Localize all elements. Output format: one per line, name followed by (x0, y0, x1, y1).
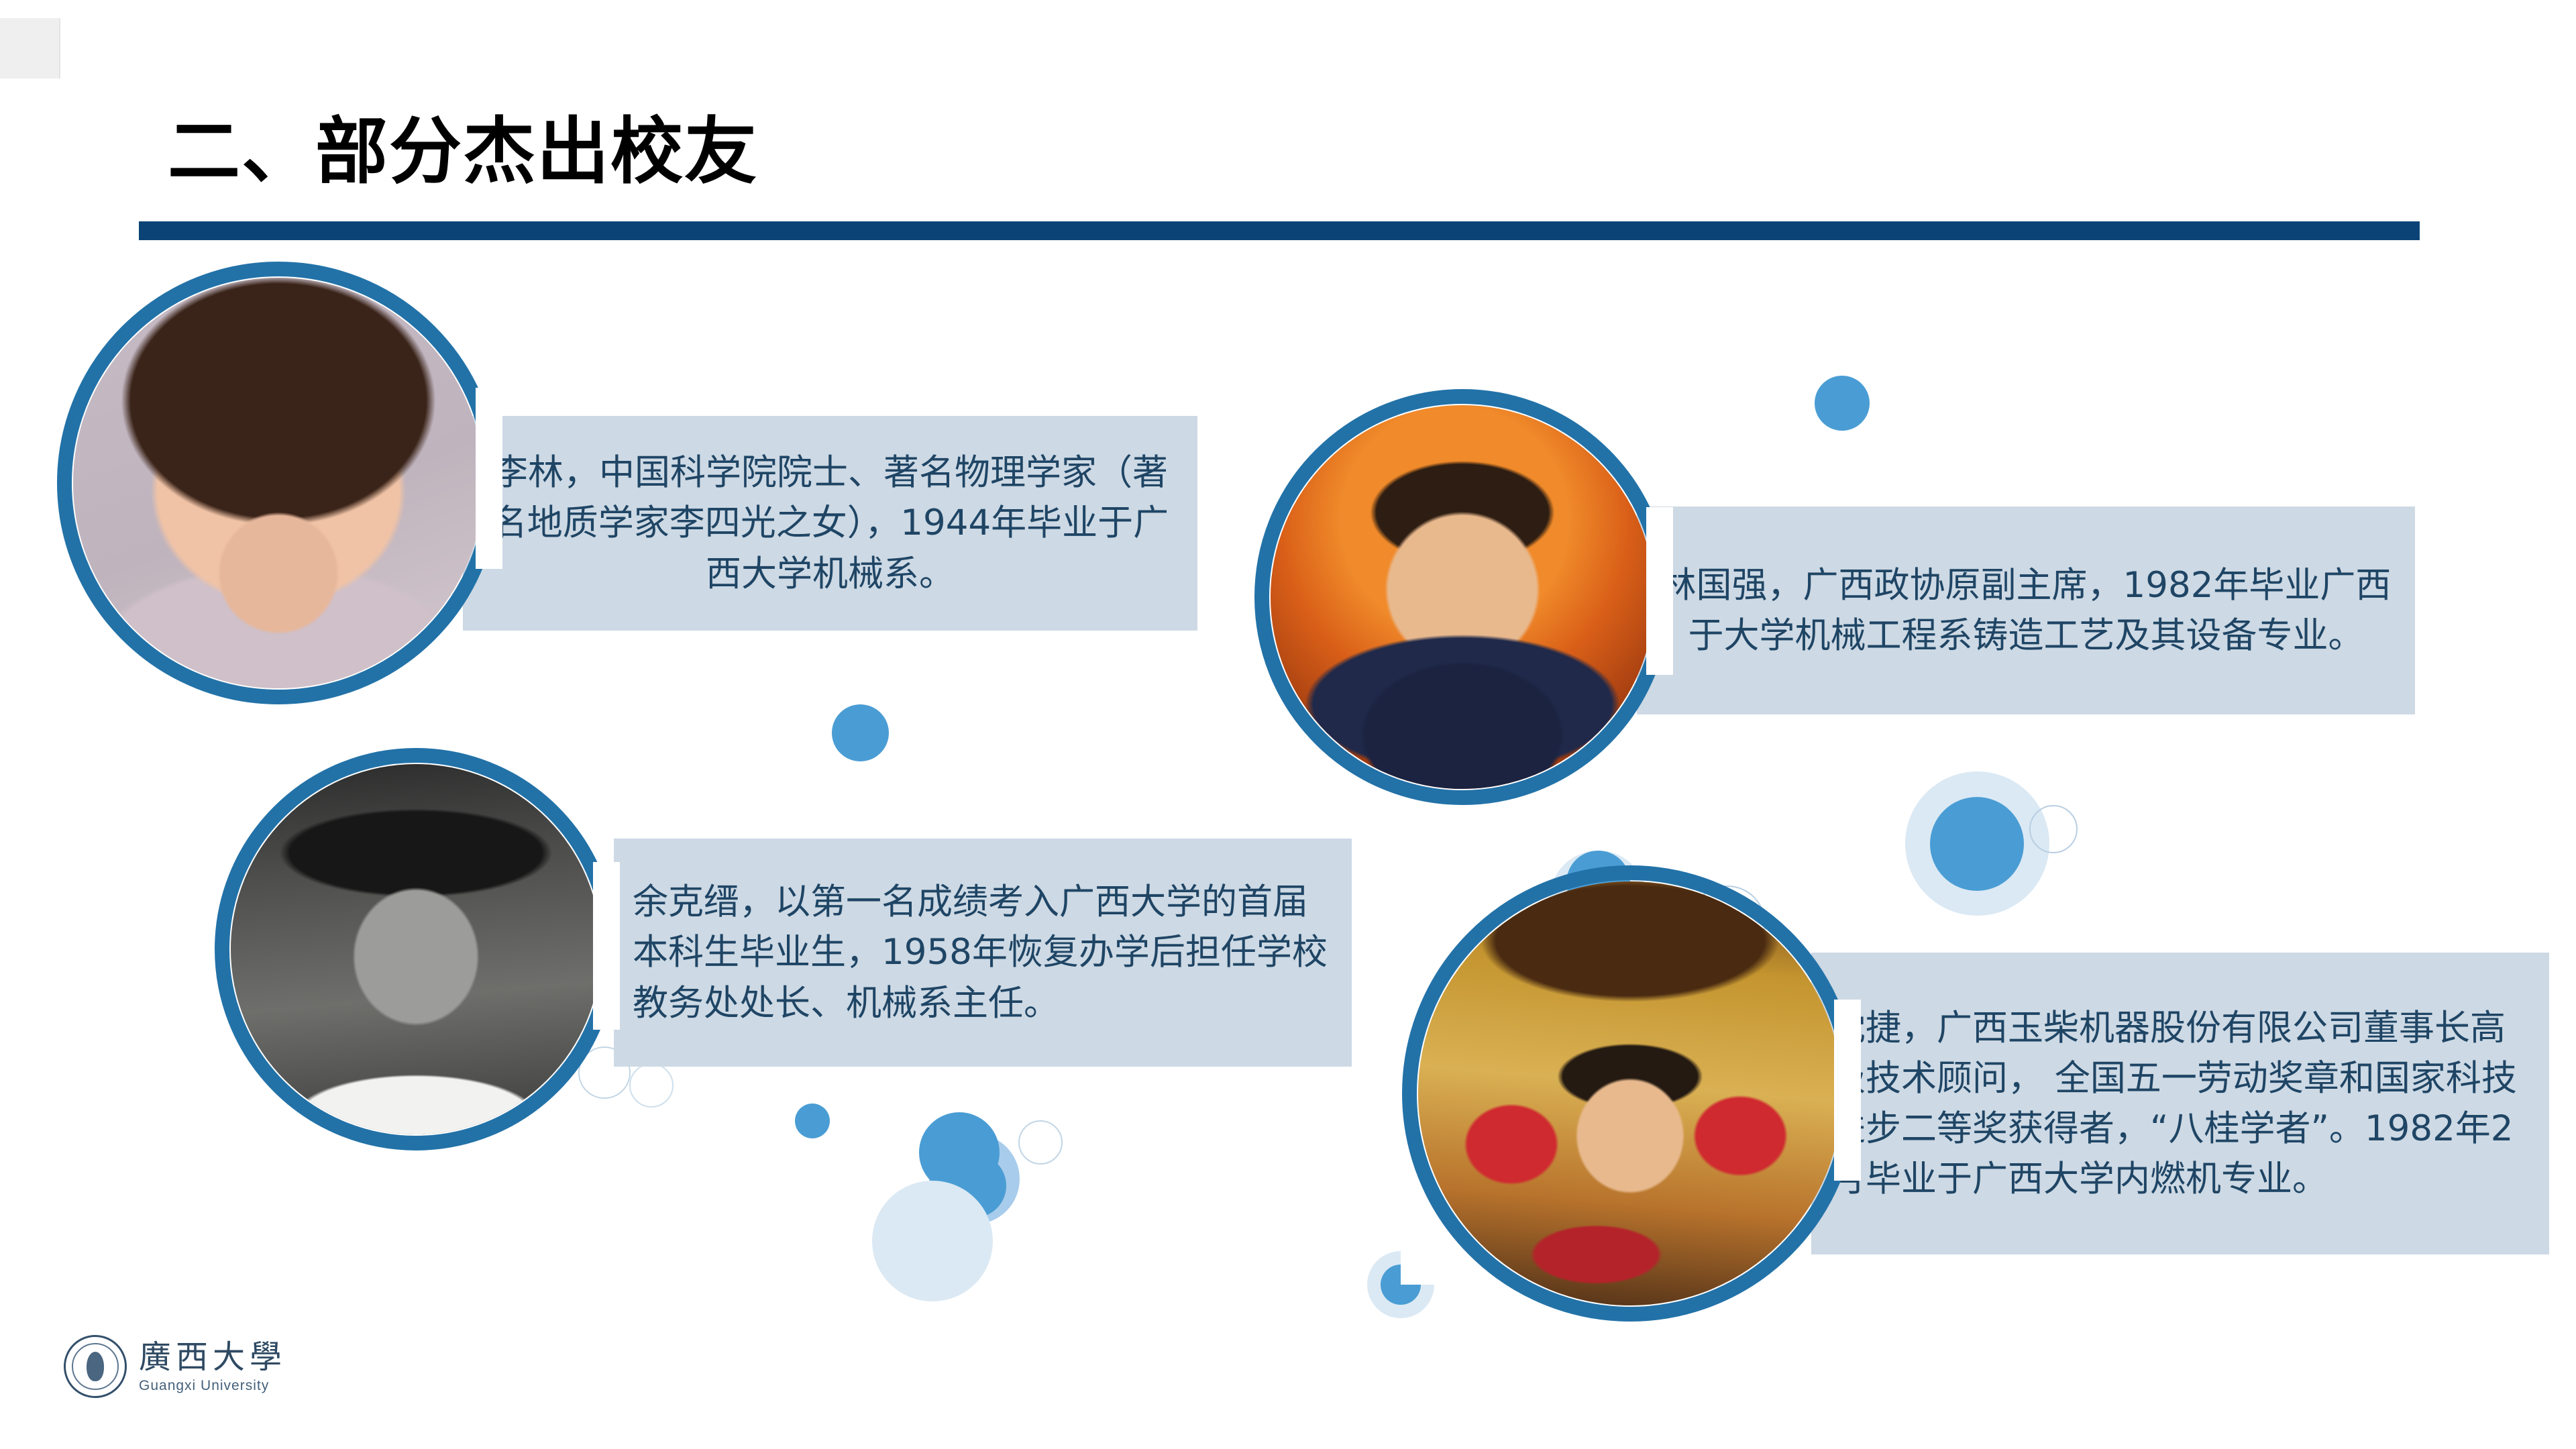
alumni-photo-4[interactable] (1402, 865, 1858, 1322)
alumni-panel-4: 沈捷，广西玉柴机器股份有限公司董事长高级技术顾问， 全国五一劳动奖章和国家科技进… (1811, 953, 2549, 1254)
alumni-photo-2[interactable] (1254, 389, 1670, 805)
corner-tab (0, 18, 60, 78)
decorative-ring-bottom-1 (1018, 1120, 1063, 1165)
alumni-panel-3: 余克缙，以第一名成绩考入广西大学的首届本科生毕业生，1958年恢复办学后担任学校… (614, 839, 1352, 1067)
alumni-text-2: 林国强，广西政协原副主席，1982年毕业广西于大学机械工程系铸造工艺及其设备专业… (1660, 560, 2392, 661)
alumni-photo-1[interactable] (57, 262, 500, 704)
decorative-ring-left-small (629, 1063, 674, 1108)
alumni-panel-2: 林国强，广西政协原副主席，1982年毕业广西于大学机械工程系铸造工艺及其设备专业… (1637, 506, 2415, 714)
university-seal-icon (64, 1335, 127, 1398)
alumni-photo-3-image (231, 764, 601, 1134)
alumni-photo-2-ring-gap (1646, 507, 1673, 675)
alumni-photo-2-image (1271, 405, 1654, 789)
university-logo-text: 廣西大學 Guangxi University (139, 1341, 286, 1393)
title-underline-bar (139, 221, 2420, 240)
alumni-photo-4-image (1418, 881, 1842, 1305)
decorative-circle-mid-left (832, 704, 889, 761)
alumni-photo-1-ring-gap (476, 388, 502, 569)
university-name-en: Guangxi University (139, 1379, 286, 1393)
decorative-circle-pale-bottom-1 (872, 1181, 993, 1301)
university-name-cn: 廣西大學 (139, 1341, 286, 1373)
page-title: 二、部分杰出校友 (168, 114, 758, 190)
decorative-circle-mid-top (1815, 376, 1870, 431)
alumni-text-4: 沈捷，广西玉柴机器股份有限公司董事长高级技术顾问， 全国五一劳动奖章和国家科技进… (1830, 1003, 2530, 1205)
alumni-text-1: 李林，中国科学院院士、著名物理学家（著名地质学家李四光之女），1944年毕业于广… (490, 447, 1171, 599)
alumni-panel-1: 李林，中国科学院院士、著名物理学家（著名地质学家李四光之女），1944年毕业于广… (463, 416, 1197, 631)
alumni-photo-4-ring-gap (1834, 1000, 1861, 1181)
decorative-ring-small-right (2029, 805, 2078, 853)
slide-canvas: 二、部分杰出校友 (0, 0, 2576, 1449)
alumni-photo-3-ring-gap (593, 862, 620, 1030)
alumni-photo-1-image (73, 278, 484, 688)
decorative-circle-mid-overlay (1930, 797, 2024, 891)
decorative-circle-small-mid (795, 1104, 830, 1138)
alumni-text-3: 余克缙，以第一名成绩考入广西大学的首届本科生毕业生，1958年恢复办学后担任学校… (633, 877, 1333, 1028)
university-logo: 廣西大學 Guangxi University (64, 1335, 286, 1398)
alumni-photo-3[interactable] (215, 748, 617, 1150)
